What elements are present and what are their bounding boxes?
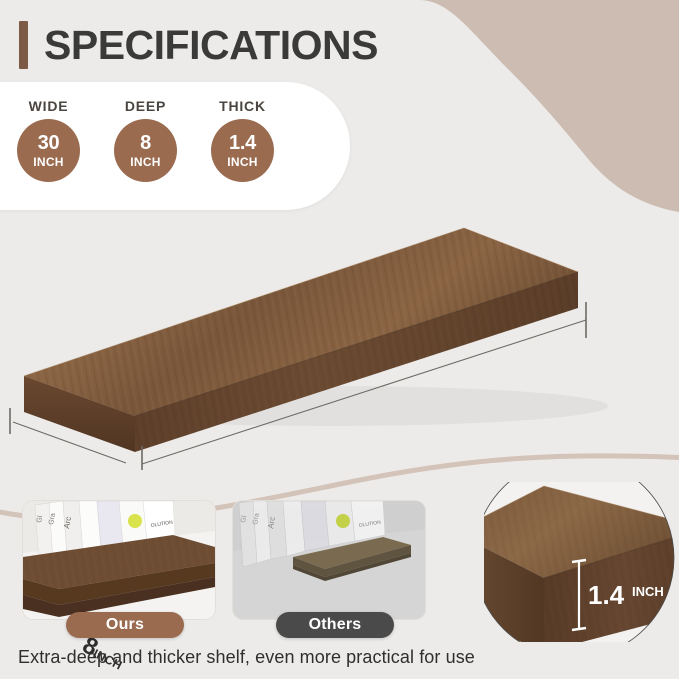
thickness-detail-closeup: 1.4 INCH <box>484 482 679 642</box>
spec-label-deep: DEEP <box>125 98 166 114</box>
spec-value-deep: 8 <box>140 133 151 153</box>
hero-shelf-illustration: 30INCH 8INCH <box>0 210 679 470</box>
specifications-row: WIDE 30 INCH DEEP 8 INCH THICK 1.4 INCH <box>0 82 350 210</box>
spec-label-thick: THICK <box>219 98 266 114</box>
comparison-panel-others: OLUTION Gl Gra Arc <box>232 500 426 620</box>
photo-ours-thick-shelf: OLUTION Gl Gra Arc <box>23 501 215 619</box>
spec-unit-thick: INCH <box>227 156 258 168</box>
badge-ours: Ours <box>66 612 184 638</box>
detail-thickness-value: 1.4 <box>588 580 625 610</box>
spec-item-thick: THICK 1.4 INCH <box>194 82 291 182</box>
spec-value-thick: 1.4 <box>229 133 256 153</box>
page-title: SPECIFICATIONS <box>44 25 378 66</box>
spec-unit-wide: INCH <box>33 156 64 168</box>
infographic-stage: SPECIFICATIONS WIDE 30 INCH DEEP 8 INCH … <box>0 0 679 679</box>
spec-item-deep: DEEP 8 INCH <box>97 82 194 182</box>
photo-others-thin-shelf: OLUTION Gl Gra Arc <box>233 501 425 619</box>
detail-thickness-unit: INCH <box>632 584 664 599</box>
footer-caption: Extra-deep and thicker shelf, even more … <box>18 647 658 668</box>
spec-item-wide: WIDE 30 INCH <box>0 82 97 182</box>
specifications-card: WIDE 30 INCH DEEP 8 INCH THICK 1.4 INCH <box>0 82 350 210</box>
title-accent-bar <box>19 21 28 69</box>
comparison-panel-ours: OLUTION Gl Gra Arc <box>22 500 216 620</box>
spec-circle-thick: 1.4 INCH <box>211 119 274 182</box>
spec-circle-wide: 30 INCH <box>17 119 80 182</box>
spec-unit-deep: INCH <box>130 156 161 168</box>
badge-others: Others <box>276 612 394 638</box>
spec-label-wide: WIDE <box>29 98 69 114</box>
page-header: SPECIFICATIONS <box>0 14 679 76</box>
spec-value-wide: 30 <box>38 133 60 153</box>
spec-circle-deep: 8 INCH <box>114 119 177 182</box>
